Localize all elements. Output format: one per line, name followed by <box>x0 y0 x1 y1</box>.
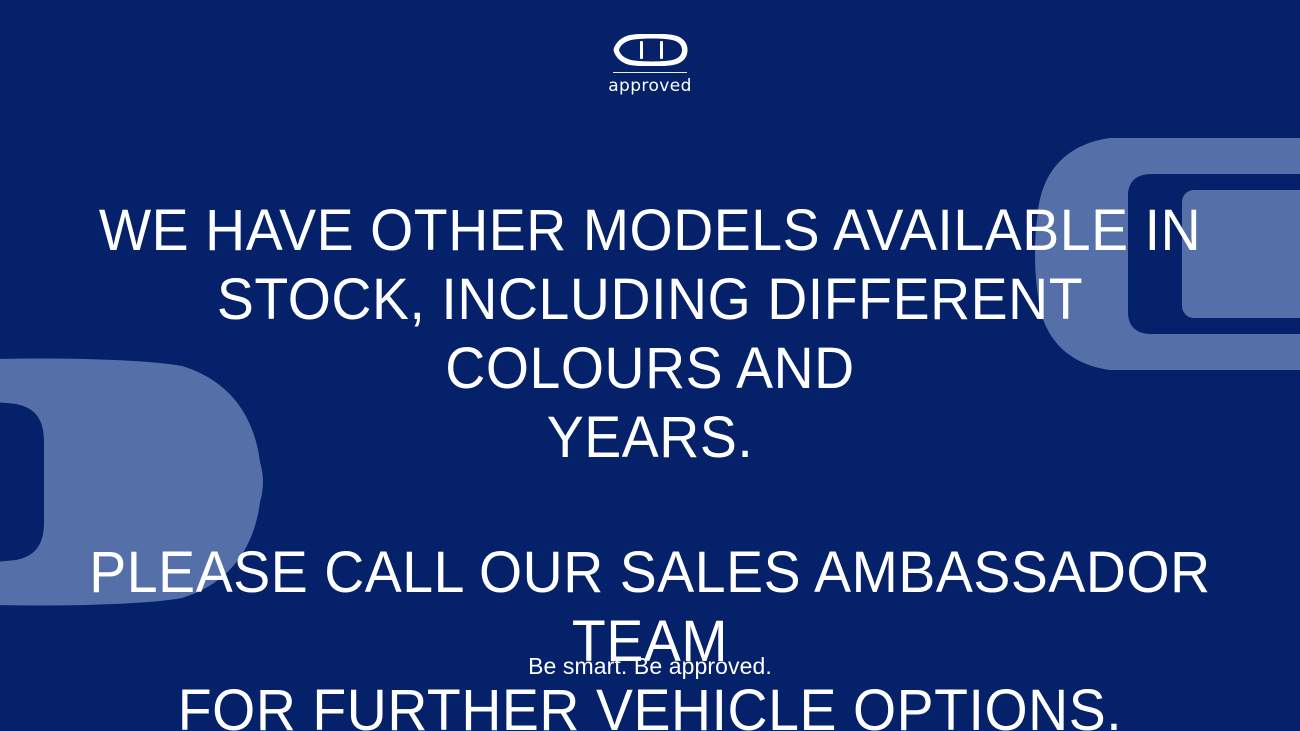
logo-divider <box>613 72 687 73</box>
car-top-view-icon <box>612 34 688 66</box>
headline-line-1: WE HAVE OTHER MODELS AVAILABLE IN <box>29 196 1271 265</box>
headline-line-3: YEARS. <box>29 403 1271 472</box>
paragraph-spacer <box>0 472 1300 538</box>
headline-line-5: FOR FURTHER VEHICLE OPTIONS. <box>29 676 1271 731</box>
logo-wordmark: approved <box>608 78 692 95</box>
brand-logo: approved <box>0 34 1300 95</box>
message-block: WE HAVE OTHER MODELS AVAILABLE IN STOCK,… <box>0 196 1300 731</box>
promo-slide: approved WE HAVE OTHER MODELS AVAILABLE … <box>0 0 1300 731</box>
tagline: Be smart. Be approved. <box>0 652 1300 680</box>
headline-line-2: STOCK, INCLUDING DIFFERENT COLOURS AND <box>29 265 1271 403</box>
